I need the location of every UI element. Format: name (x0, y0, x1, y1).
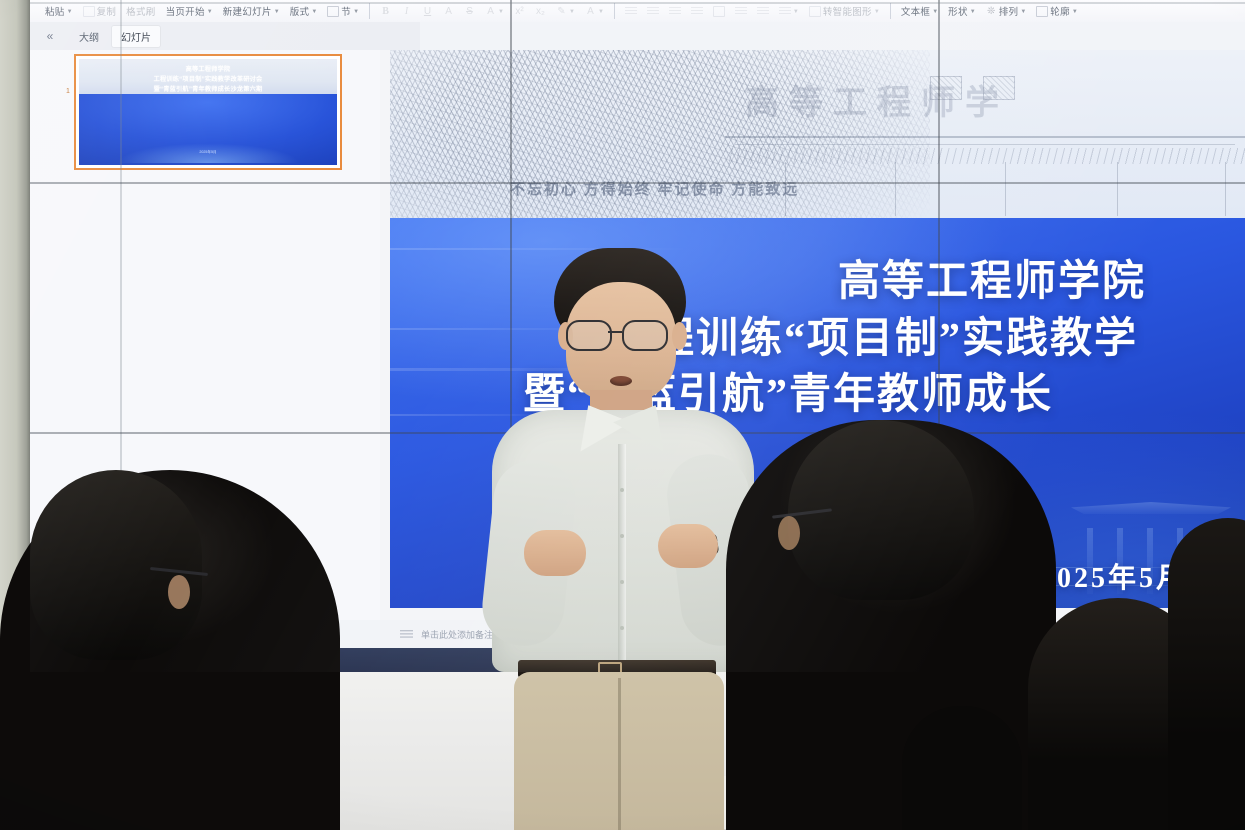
ribbon-button-align-right[interactable] (664, 2, 686, 20)
ribbon-button-align-center[interactable] (642, 2, 664, 20)
slide-sketch-header: 高等工程师学 不忘初心 方得始终 牢记使命 方能致远 (390, 50, 1245, 218)
slide-date[interactable]: 2025年5月 (1040, 556, 1187, 596)
strikethrough-icon: S (464, 6, 475, 17)
ribbon-button-paste[interactable]: 粘贴 ▼ (40, 2, 78, 20)
align-right-icon (669, 7, 681, 16)
thumbnail-date: 2025年5月 (79, 150, 337, 155)
sketch-eaves (725, 148, 1245, 164)
chevron-down-icon: ▼ (793, 9, 799, 15)
audience-member-back-center (902, 706, 1022, 830)
audience-member-front-left (0, 470, 340, 830)
ribbon-button-outline[interactable]: 轮廓 ▼ (1031, 2, 1083, 20)
chevron-down-icon: ▼ (274, 9, 280, 15)
ribbon-divider (369, 3, 370, 19)
superscript-icon: x² (514, 6, 525, 17)
text-effects-icon: A (443, 6, 454, 17)
ribbon-label-convert-smartart: 转智能图形 (823, 4, 872, 18)
ribbon-button-start-from-current[interactable]: 当页开始 ▼ (161, 2, 218, 20)
ribbon-label-layout: 版式 (290, 4, 310, 18)
audience-member-far-right (1168, 518, 1245, 830)
glasses-lens-left (566, 320, 612, 351)
slide-thumbnail-preview: 高等工程师学院 工程训练“项目制”实践教学改革研讨会 暨“青蓝引航”青年教师成长… (79, 59, 337, 165)
ribbon-label-textbox: 文本框 (901, 4, 930, 18)
ribbon-button-arrange[interactable]: ❊ 排列 ▼ (981, 2, 1032, 20)
section-icon (327, 6, 339, 17)
collapse-panel-button[interactable]: « (30, 29, 70, 43)
presenter-mouth (610, 376, 632, 386)
ribbon-button-textbox[interactable]: 文本框 ▼ (896, 2, 943, 20)
underline-icon: U (422, 6, 433, 17)
chevron-down-icon: ▼ (498, 9, 504, 15)
chevron-down-icon: ▼ (970, 9, 976, 15)
chevron-down-icon: ▼ (598, 9, 604, 15)
thumbnail-title-line-3: 暨“青蓝引航”青年教师成长沙龙第六期 (89, 85, 326, 95)
thumbnail-title: 高等工程师学院 工程训练“项目制”实践教学改革研讨会 暨“青蓝引航”青年教师成长… (89, 65, 326, 95)
italic-icon: I (401, 6, 412, 17)
columns-icon (713, 6, 725, 17)
presenter (470, 248, 770, 830)
chevron-down-icon: ▼ (311, 9, 317, 15)
ribbon-label-shape: 形状 (948, 4, 968, 18)
ribbon-button-line-spacing[interactable]: ▼ (774, 2, 804, 20)
tab-outline[interactable]: 大纲 (70, 26, 108, 47)
ribbon-button-subscript[interactable]: x₂ (530, 2, 551, 20)
ribbon-button-text-effects[interactable]: A (438, 2, 459, 20)
glasses-bridge (608, 331, 622, 333)
gate-roof (1071, 502, 1231, 514)
ribbon-label-format-painter: 格式刷 (126, 4, 155, 18)
ribbon-button-shape[interactable]: 形状 ▼ (943, 2, 981, 20)
ribbon-button-format-painter[interactable]: 格式刷 (121, 2, 160, 20)
ribbon-button-italic[interactable]: I (396, 2, 417, 20)
sketch-roofline (725, 136, 1245, 138)
glasses-lens-right (622, 320, 668, 351)
ribbon-divider (890, 3, 891, 19)
ribbon-button-font-color[interactable]: A▼ (580, 2, 609, 20)
shirt-button (620, 626, 624, 630)
ribbon-button-highlight[interactable]: ✎▼ (551, 2, 580, 20)
videowall-seam-horizontal (30, 182, 1245, 184)
character-shading-icon: A (485, 6, 496, 17)
numbering-icon (757, 7, 769, 16)
ribbon-label-arrange: 排列 (999, 4, 1019, 18)
ribbon-button-section[interactable]: 节 ▼ (322, 2, 364, 20)
ribbon-button-convert-smartart[interactable]: 转智能图形 ▼ (804, 2, 885, 20)
ribbon-label-section: 节 (341, 4, 351, 18)
ribbon-button-copy[interactable]: 复制 (78, 2, 122, 20)
bullets-icon (735, 7, 747, 16)
ribbon-button-strikethrough[interactable]: S (459, 2, 480, 20)
chevron-down-icon: ▼ (1072, 9, 1078, 15)
presenter-glasses (566, 320, 678, 348)
ribbon-button-superscript[interactable]: x² (509, 2, 530, 20)
arrange-icon: ❊ (986, 6, 997, 17)
chevron-down-icon: ▼ (207, 9, 213, 15)
chevron-down-icon: ▼ (67, 9, 73, 15)
screenshot-root: 粘贴 ▼ 复制 格式刷 当页开始 ▼ 新建幻灯片 (0, 0, 1245, 830)
ribbon-button-underline[interactable]: U (417, 2, 438, 20)
slide-panel-tabbar[interactable]: « 大纲 幻灯片 (30, 22, 420, 50)
font-color-icon: A (585, 6, 596, 17)
presenter-shirt-placket (618, 444, 626, 670)
thumbnail-title-line-1: 高等工程师学院 (89, 65, 326, 75)
justify-icon (691, 7, 703, 16)
notes-icon (400, 630, 413, 639)
ribbon-label-copy: 复制 (97, 4, 117, 18)
ribbon-button-new-slide[interactable]: 新建幻灯片 ▼ (218, 2, 285, 20)
ribbon-button-numbering[interactable] (752, 2, 774, 20)
ribbon-label-start-from-current: 当页开始 (166, 4, 205, 18)
align-center-icon (647, 7, 659, 16)
ribbon-label-paste: 粘贴 (45, 4, 65, 18)
presenter-hand-right (658, 524, 718, 568)
sketch-building-name: 高等工程师学 (745, 68, 1245, 130)
ribbon-button-justify[interactable] (686, 2, 708, 20)
shirt-button (620, 534, 624, 538)
subscript-icon: x₂ (535, 6, 546, 17)
ribbon-button-character-shading[interactable]: A▼ (480, 2, 509, 20)
ribbon-button-layout[interactable]: 版式 ▼ (285, 2, 323, 20)
outline-icon (1036, 6, 1048, 17)
highlight-icon: ✎ (556, 6, 567, 17)
slide-number-label: 1 (66, 88, 70, 95)
ribbon-divider (614, 3, 615, 19)
thumbnail-title-line-2: 工程训练“项目制”实践教学改革研讨会 (89, 75, 326, 85)
sketch-roofline-2 (735, 144, 1235, 145)
chevron-down-icon: ▼ (874, 9, 880, 15)
slide-thumbnail-1[interactable]: 高等工程师学院 工程训练“项目制”实践教学改革研讨会 暨“青蓝引航”青年教师成长… (74, 54, 342, 170)
videowall-seam-horizontal (30, 2, 1245, 4)
trousers-seam (618, 678, 621, 830)
audience-ear (778, 516, 800, 550)
ribbon-button-bold[interactable]: B (375, 2, 396, 20)
chevron-down-icon: ▼ (1020, 9, 1026, 15)
ribbon-label-new-slide: 新建幻灯片 (223, 4, 272, 18)
copy-icon (83, 6, 95, 17)
ribbon-button-columns[interactable] (708, 2, 730, 20)
audience-head (30, 470, 202, 660)
line-spacing-icon (779, 7, 791, 16)
align-left-icon (625, 7, 637, 16)
ribbon-label-outline: 轮廓 (1050, 4, 1070, 18)
ribbon-button-align-left[interactable] (620, 2, 642, 20)
bold-icon: B (380, 6, 391, 17)
presenter-hand-left (524, 530, 586, 576)
chevron-down-icon: ▼ (569, 9, 575, 15)
shirt-button (620, 488, 624, 492)
smartart-icon (809, 6, 821, 17)
chevron-down-icon: ▼ (353, 9, 359, 15)
ribbon-button-bullets[interactable] (730, 2, 752, 20)
shirt-button (620, 580, 624, 584)
audience-ear (168, 575, 190, 609)
